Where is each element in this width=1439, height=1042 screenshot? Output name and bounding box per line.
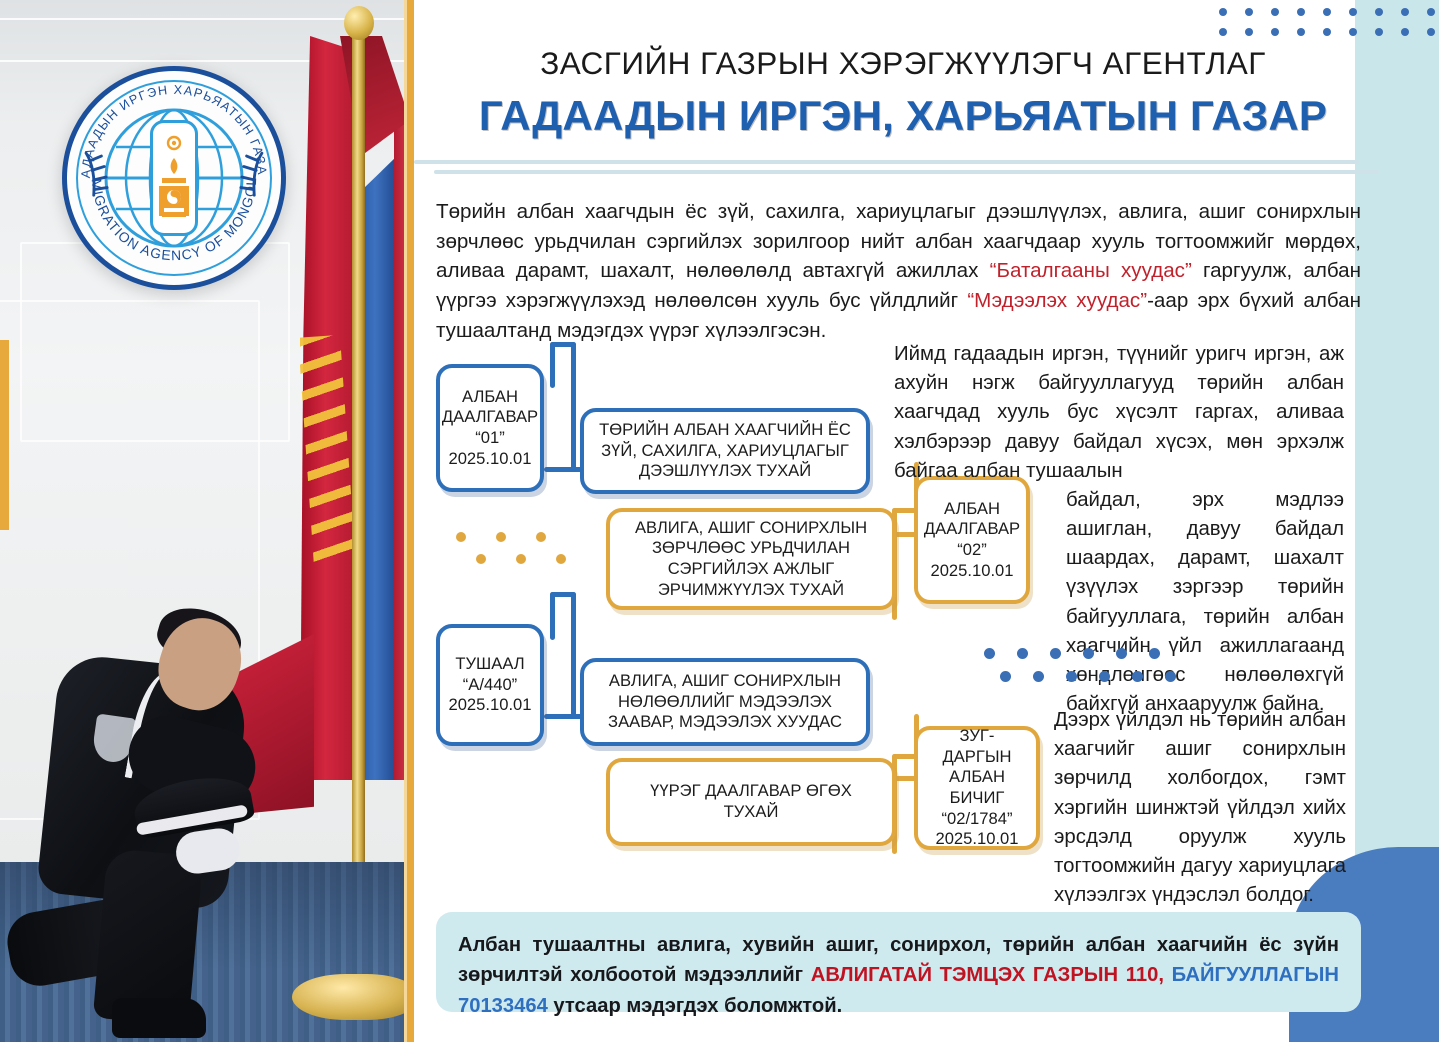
ceremony-photo: ГАДААДЫН ИРГЭН ХАРЬЯАТЫН ГАЗАР IMMIGRATI… <box>0 0 414 1042</box>
decorative-dot <box>1323 28 1331 36</box>
hotline-banner: Албан тушаалтны авлига, хувийн ашиг, сон… <box>436 912 1361 1012</box>
decorative-dot <box>1165 671 1176 682</box>
flow-node-desc-01[interactable]: ТӨРИЙН АЛБАН ХААГЧИЙН ЁСЗҮЙ, САХИЛГА, ХА… <box>580 408 870 494</box>
decorative-dot <box>1033 671 1044 682</box>
emblem-text-icon: ГАДААДЫН ИРГЭН ХАРЬЯАТЫН ГАЗАР IMMIGRATI… <box>67 71 281 285</box>
decorative-dot <box>1401 28 1409 36</box>
photo-edge-orange <box>407 0 414 1042</box>
flow-node-label-line: АВЛИГА, АШИГ СОНИРХЛЫН <box>635 518 867 539</box>
content-area: ЗАСГИЙН ГАЗРЫН ХЭРЭГЖҮҮЛЭГЧ АГЕНТЛАГ ГАД… <box>414 0 1439 1042</box>
flow-node-label-line: 2025.10.01 <box>926 829 1028 850</box>
flagpole-base <box>292 974 414 1020</box>
flow-node-label-line: ЗҮЙ, САХИЛГА, ХАРИУЦЛАГЫГ <box>599 441 851 462</box>
dot-grid-blue <box>984 648 1198 682</box>
decorative-dot <box>556 554 566 564</box>
decorative-dot <box>536 532 546 542</box>
flow-node-label-line: “02/1784” <box>926 809 1028 830</box>
header-subtitle: ЗАСГИЙН ГАЗРЫН ХЭРЭГЖҮҮЛЭГЧ АГЕНТЛАГ <box>438 45 1368 82</box>
decorative-dot <box>1149 648 1160 659</box>
decorative-dot <box>1050 648 1061 659</box>
decorative-dot <box>1297 8 1305 16</box>
flow-node-label: АЛБАНДААЛГАВАР“01”2025.10.01 <box>442 387 538 469</box>
flagpole-finial <box>344 6 374 40</box>
decorative-dot <box>1349 8 1357 16</box>
decorative-dot <box>516 554 526 564</box>
decorative-dot <box>1349 28 1357 36</box>
decorative-dot <box>1271 28 1279 36</box>
decorative-dot <box>1245 8 1253 16</box>
flow-node-label: ЗУГ-ДАРГЫНАЛБАН БИЧИГ“02/1784”2025.10.01 <box>926 726 1028 849</box>
flow-node-label-line: “А/440” <box>448 675 531 696</box>
page-title: ГАДААДЫН ИРГЭН, ХАРЬЯАТЫН ГАЗАР <box>438 92 1368 140</box>
svg-text:ГАДААДЫН ИРГЭН ХАРЬЯАТЫН ГАЗАР: ГАДААДЫН ИРГЭН ХАРЬЯАТЫН ГАЗАР <box>67 71 269 178</box>
decorative-dot <box>1375 28 1383 36</box>
decorative-dot <box>1017 648 1028 659</box>
flow-node-label-line: ҮҮРЭГ ДААЛГАВАР ӨГӨХ <box>650 781 852 802</box>
decorative-dot <box>1116 648 1127 659</box>
decorative-dot <box>1132 671 1143 682</box>
kneeling-officer <box>8 552 298 1042</box>
decorative-dot <box>1245 28 1253 36</box>
decorative-dot <box>476 554 486 564</box>
header-divider-top <box>414 160 1359 164</box>
flow-node-label-line: АВЛИГА, АШИГ СОНИРХЛЫН <box>608 671 842 692</box>
decorative-dot <box>1323 8 1331 16</box>
right-paragraph-1-lead: Иймд гадаадын иргэн, түүнийг уригч иргэн… <box>894 343 1344 482</box>
flow-node-label-line: ЗААВАР, МЭДЭЭЛЭХ ХУУДАС <box>608 712 842 733</box>
banner-text-2: утсаар мэдэгдэх боломжтой. <box>548 995 842 1017</box>
banner-hotline-110: АВЛИГАТАЙ ТЭМЦЭХ ГАЗРЫН 110 <box>811 964 1159 986</box>
banner-comma: , <box>1158 964 1171 986</box>
dot-row <box>1219 28 1439 36</box>
flow-node-label-line: “01” <box>442 428 538 449</box>
decorative-dot <box>1219 8 1227 16</box>
flow-node-label-line: ТУХАЙ <box>650 802 852 823</box>
decorative-dot <box>984 648 995 659</box>
flow-node-label: АВЛИГА, АШИГ СОНИРХЛЫНЗӨРЧЛӨӨС УРЬДЧИЛАН… <box>635 518 867 600</box>
decorative-dot <box>1427 8 1435 16</box>
flow-node-label-line: ДЭЭШЛҮҮЛЭХ ТУХАЙ <box>599 461 851 482</box>
decorative-dot <box>1066 671 1077 682</box>
intro-highlight-report-sheet: “Мэдээлэх хуудас” <box>967 289 1147 312</box>
flow-node-label-line: ТУШААЛ <box>448 654 531 675</box>
decorative-dot <box>1427 28 1435 36</box>
svg-text:IMMIGRATION AGENCY OF MONGOLIA: IMMIGRATION AGENCY OF MONGOLIA <box>67 71 259 263</box>
flow-node-label-line: ДААЛГАВАР <box>442 407 538 428</box>
flow-node-label-line: ЭРЧИМЖҮҮЛЭХ ТУХАЙ <box>635 580 867 601</box>
decorative-dot <box>1375 8 1383 16</box>
decorative-dot <box>1083 648 1094 659</box>
dot-row <box>984 648 1198 659</box>
flow-node-label-line: СЭРГИЙЛЭХ АЖЛЫГ <box>635 559 867 580</box>
decorative-dot <box>1297 28 1305 36</box>
flow-node-label-line: АЛБАН БИЧИГ <box>926 767 1028 808</box>
officer-shoe <box>112 998 206 1038</box>
infographic-page: ГАДААДЫН ИРГЭН ХАРЬЯАТЫН ГАЗАР IMMIGRATI… <box>0 0 1439 1042</box>
left-orange-tab <box>0 340 9 530</box>
flow-node-label-line: АЛБАН <box>442 387 538 408</box>
flow-node-label-line: ТӨРИЙН АЛБАН ХААГЧИЙН ЁС <box>599 420 851 441</box>
flow-node-label: ТӨРИЙН АЛБАН ХААГЧИЙН ЁСЗҮЙ, САХИЛГА, ХА… <box>599 420 851 482</box>
flow-node-label: ТУШААЛ“А/440”2025.10.01 <box>448 654 531 716</box>
decorative-dot <box>1219 28 1227 36</box>
dot-grid-top-right <box>1219 8 1439 36</box>
flow-node-desc-a440[interactable]: АВЛИГА, АШИГ СОНИРХЛЫННӨЛӨӨЛЛИЙГ МЭДЭЭЛЭ… <box>580 658 870 746</box>
flow-node-official-letter[interactable]: ЗУГ-ДАРГЫНАЛБАН БИЧИГ“02/1784”2025.10.01 <box>914 726 1040 850</box>
flow-node-label-line: НӨЛӨӨЛЛИЙГ МЭДЭЭЛЭХ <box>608 692 842 713</box>
flagpole <box>352 22 365 982</box>
intro-highlight-guarantee-sheet: “Баталгааны хуудас” <box>990 259 1192 282</box>
decorative-dot <box>1401 8 1409 16</box>
decorative-dot <box>1271 8 1279 16</box>
flow-node-label: АВЛИГА, АШИГ СОНИРХЛЫННӨЛӨӨЛЛИЙГ МЭДЭЭЛЭ… <box>608 671 842 733</box>
flow-node-desc-02[interactable]: АВЛИГА, АШИГ СОНИРХЛЫНЗӨРЧЛӨӨС УРЬДЧИЛАН… <box>606 508 896 610</box>
flow-node-label-line: 2025.10.01 <box>448 695 531 716</box>
intro-paragraph: Төрийн албан хаагчдын ёс зүй, сахилга, х… <box>436 197 1361 345</box>
dot-row <box>456 532 596 542</box>
flow-node-desc-03[interactable]: ҮҮРЭГ ДААЛГАВАР ӨГӨХТУХАЙ <box>606 758 896 846</box>
dot-grid-orange <box>456 532 596 564</box>
flow-node-label-line: 2025.10.01 <box>442 449 538 470</box>
agency-emblem: ГАДААДЫН ИРГЭН ХАРЬЯАТЫН ГАЗАР IMMIGRATI… <box>62 66 286 290</box>
dot-row <box>1219 8 1439 16</box>
emblem-text-bottom: IMMIGRATION AGENCY OF MONGOLIA <box>67 71 259 263</box>
flow-node-label-line: ЗУГ-ДАРГЫН <box>926 726 1028 767</box>
emblem-text-top: ГАДААДЫН ИРГЭН ХАРЬЯАТЫН ГАЗАР <box>67 71 269 178</box>
flow-node-label: ҮҮРЭГ ДААЛГАВАР ӨГӨХТУХАЙ <box>650 781 852 822</box>
dot-row <box>1000 671 1198 682</box>
decorative-dot <box>456 532 466 542</box>
header-divider-bottom <box>434 170 1379 174</box>
dot-row <box>476 554 596 564</box>
decorative-dot <box>496 532 506 542</box>
right-paragraph-1-wrap: байдал, эрх мэдлээ ашиглан, давуу байдал… <box>1066 486 1344 719</box>
decorative-dot <box>1099 671 1110 682</box>
right-paragraph-2: Дээрх үйлдэл нь төрийн албан хаагчийг аш… <box>1054 706 1346 910</box>
flow-node-label-line: ЗӨРЧЛӨӨС УРЬДЧИЛАН <box>635 538 867 559</box>
flow-node-order-a440[interactable]: ТУШААЛ“А/440”2025.10.01 <box>436 624 544 746</box>
decorative-dot <box>1000 671 1011 682</box>
flow-node-doc-01[interactable]: АЛБАНДААЛГАВАР“01”2025.10.01 <box>436 364 544 492</box>
